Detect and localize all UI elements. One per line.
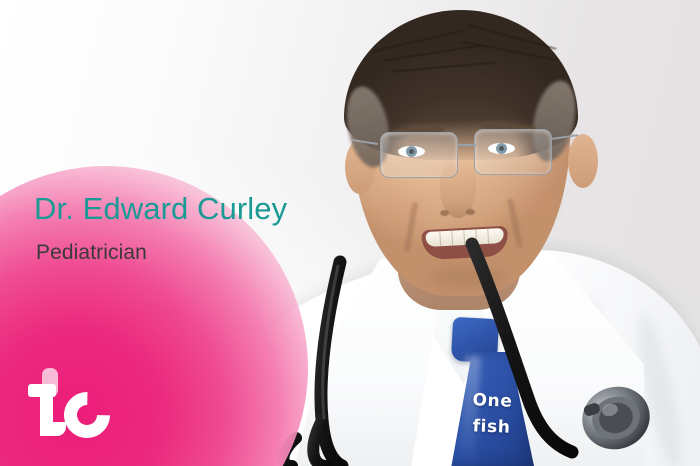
teeth — [425, 228, 504, 247]
doctor-specialty: Pediatrician — [36, 240, 287, 266]
eyeglasses — [372, 132, 588, 186]
cheek-right — [516, 190, 556, 220]
necktie-text: One fish — [447, 386, 537, 441]
eyeglass-temple-right — [552, 134, 578, 139]
nostril-left — [440, 210, 449, 216]
necktie-text-line-1: One — [448, 386, 537, 415]
eyeglass-lens-right — [474, 129, 552, 175]
necktie-text-line-2: fish — [447, 412, 536, 441]
nostril-right — [466, 209, 475, 215]
chin-shadow — [430, 266, 504, 288]
eyeglass-bridge — [458, 144, 476, 146]
doctor-name: Dr. Edward Curley — [34, 190, 287, 228]
caption-block: Dr. Edward Curley Pediatrician — [34, 190, 287, 266]
ic-logo[interactable] — [26, 366, 110, 436]
logo-i-foot — [40, 422, 66, 436]
doctor-profile-banner: One fish — [0, 0, 700, 466]
